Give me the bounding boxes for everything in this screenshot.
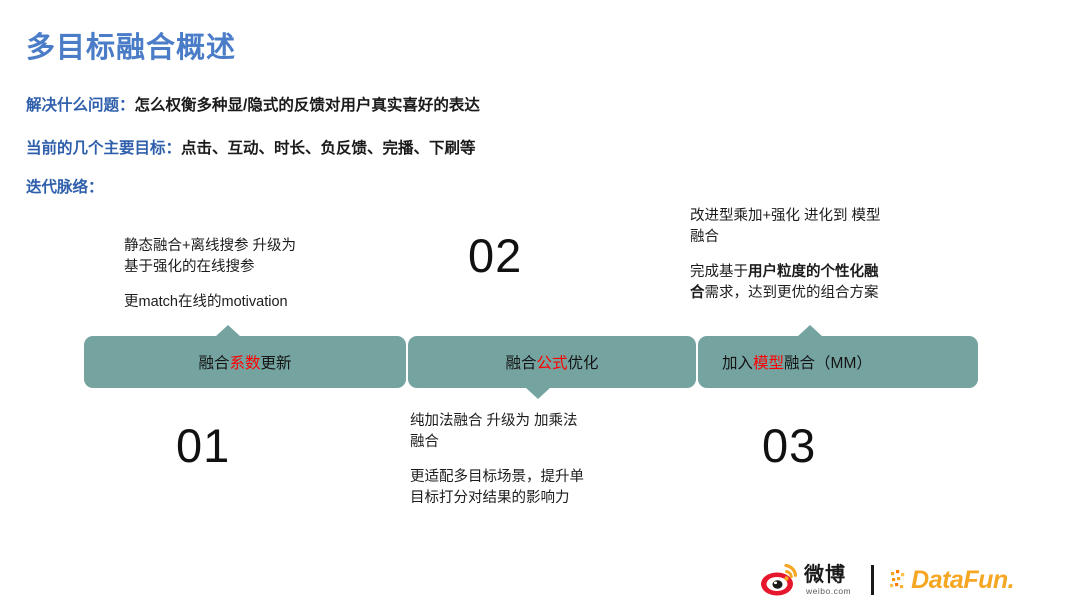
step-number-02: 02: [468, 228, 522, 283]
step-number-01: 01: [176, 418, 230, 473]
footer-divider: [871, 565, 874, 595]
bar-segment-label: 融合系数更新: [198, 351, 291, 373]
note-line: 合需求，达到更优的组合方案: [690, 283, 942, 304]
note-stage-03: 改进型乘加+强化 进化到 模型 融合 完成基于用户粒度的个性化融 合需求，达到更…: [690, 206, 942, 304]
note-line: 融合: [690, 227, 942, 248]
note-line: 更适配多目标场景，提升单: [410, 467, 655, 488]
seg-pre: 加入: [722, 355, 753, 372]
page-title: 多目标融合概述: [26, 24, 236, 66]
note-spacer: [410, 453, 655, 467]
note-line: 基于强化的在线搜参: [124, 257, 374, 278]
note-line: 完成基于用户粒度的个性化融: [690, 262, 942, 283]
seg-pre: 融合: [505, 355, 536, 372]
note-emphasis: 合: [690, 285, 705, 301]
seg-highlight: 模型: [753, 355, 784, 372]
note-spacer: [124, 278, 374, 292]
bullet-value: 点击、互动、时长、负反馈、完播、下刷等: [181, 140, 476, 157]
weibo-domain: weibo.com: [806, 587, 851, 596]
datafun-dots-icon: [890, 568, 910, 592]
note-text: 完成基于: [690, 264, 748, 280]
note-line: 纯加法融合 升级为 加乘法: [410, 411, 655, 432]
note-emphasis: 用户粒度的个性化融: [748, 264, 879, 280]
bar-segment-formula-optimization[interactable]: 融合公式优化: [408, 336, 696, 388]
bar-segment-coefficient-update[interactable]: 融合系数更新: [84, 336, 406, 388]
bar-segment-model-fusion[interactable]: 加入模型融合（MM）: [698, 336, 978, 388]
seg-highlight: 公式: [536, 355, 567, 372]
bullet-label: 迭代脉络：: [26, 179, 104, 196]
weibo-eye-icon: [760, 563, 800, 597]
bullet-label: 解决什么问题：: [26, 97, 135, 114]
datafun-wordmark: DataFun.: [911, 568, 1014, 593]
pointer-down-stage-02: [525, 387, 551, 399]
note-line: 目标打分对结果的影响力: [410, 488, 655, 509]
bullet-label: 当前的几个主要目标：: [26, 140, 181, 157]
weibo-name-cn: 微博: [804, 565, 851, 585]
note-line: 静态融合+离线搜参 升级为: [124, 236, 374, 257]
note-spacer: [690, 248, 942, 262]
note-line: 改进型乘加+强化 进化到 模型: [690, 206, 942, 227]
note-line: 融合: [410, 432, 655, 453]
footer-logos: 微博 weibo.com DataFun.: [760, 556, 1060, 604]
bullet-line-objectives: 当前的几个主要目标：点击、互动、时长、负反馈、完播、下刷等: [26, 141, 476, 157]
note-line: 更match在线的motivation: [124, 292, 374, 313]
timeline-bar: 融合系数更新 融合公式优化 加入模型融合（MM）: [84, 336, 978, 388]
note-stage-01: 静态融合+离线搜参 升级为 基于强化的在线搜参 更match在线的motivat…: [124, 236, 374, 313]
bar-segment-label: 加入模型融合（MM）: [722, 351, 872, 373]
slide-canvas: 多目标融合概述 解决什么问题：怎么权衡多种显/隐式的反馈对用户真实喜好的表达 当…: [0, 0, 1080, 608]
bullet-line-problem: 解决什么问题：怎么权衡多种显/隐式的反馈对用户真实喜好的表达: [26, 98, 480, 114]
bullet-value: 怎么权衡多种显/隐式的反馈对用户真实喜好的表达: [135, 97, 480, 114]
weibo-logo: 微博 weibo.com: [760, 563, 851, 597]
datafun-logo: DataFun.: [890, 568, 1014, 593]
bullet-line-iteration: 迭代脉络：: [26, 180, 104, 196]
note-stage-02: 纯加法融合 升级为 加乘法 融合 更适配多目标场景，提升单 目标打分对结果的影响…: [410, 411, 655, 509]
seg-highlight: 系数: [229, 355, 260, 372]
seg-pre: 融合: [198, 355, 229, 372]
note-text: 需求，达到更优的组合方案: [705, 285, 879, 301]
step-number-03: 03: [762, 418, 816, 473]
seg-post: 优化: [568, 355, 599, 372]
weibo-wordmark: 微博 weibo.com: [804, 565, 851, 596]
seg-post: 融合（MM）: [784, 355, 872, 372]
bar-segment-label: 融合公式优化: [505, 351, 598, 373]
seg-post: 更新: [261, 355, 292, 372]
